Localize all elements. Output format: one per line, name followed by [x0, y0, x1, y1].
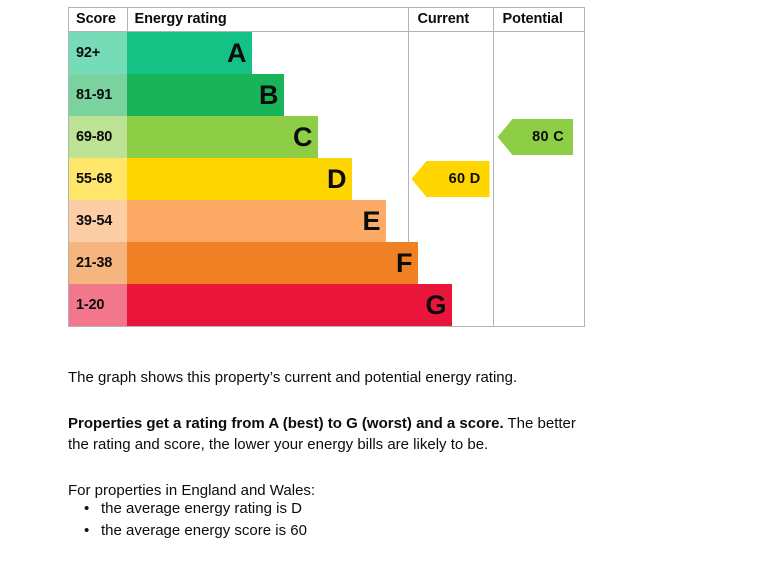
potential-cell-e [493, 200, 584, 242]
score-range-f: 21-38 [69, 242, 127, 284]
current-cell-d: 60 D [408, 158, 493, 200]
score-range-a: 92+ [69, 32, 127, 75]
rating-bar-cell-e: E [127, 200, 408, 242]
average-list-item: the average energy rating is D [101, 498, 307, 520]
rating-letter-a: A [227, 40, 246, 67]
rating-row-b: 81-91B [69, 74, 584, 116]
rating-bar-a: A [127, 32, 252, 74]
column-header-potential: Potential [493, 8, 584, 32]
rating-bar-c: C [127, 116, 318, 158]
rating-row-d: 55-68D60 D [69, 158, 584, 200]
score-range-e: 39-54 [69, 200, 127, 242]
current-cell-f [408, 242, 493, 284]
rating-bar-cell-d: D [127, 158, 408, 200]
column-header-current: Current [408, 8, 493, 32]
potential-cell-b [493, 74, 584, 116]
potential-cell-g [493, 284, 584, 326]
rating-explanation-paragraph: Properties get a rating from A (best) to… [68, 413, 588, 455]
rating-bar-d: D [127, 158, 352, 200]
rating-row-e: 39-54E [69, 200, 584, 242]
rating-bar-b: B [127, 74, 284, 116]
rating-row-a: 92+A [69, 32, 584, 75]
score-range-b: 81-91 [69, 74, 127, 116]
score-range-g: 1-20 [69, 284, 127, 326]
column-header-rating: Energy rating [127, 8, 408, 32]
rating-bar-g: G [127, 284, 452, 326]
score-range-c: 69-80 [69, 116, 127, 158]
average-list-item: the average energy score is 60 [101, 520, 307, 542]
averages-list: the average energy rating is Dthe averag… [68, 498, 307, 542]
current-cell-g [408, 284, 493, 326]
current-cell-e [408, 200, 493, 242]
potential-cell-c: 80 C [493, 116, 584, 158]
potential-cell-a [493, 32, 584, 75]
intro-paragraph: The graph shows this property’s current … [68, 367, 628, 388]
rating-bar-cell-b: B [127, 74, 408, 116]
rating-letter-c: C [293, 124, 312, 151]
score-range-d: 55-68 [69, 158, 127, 200]
potential-cell-d [493, 158, 584, 200]
rating-row-g: 1-20G [69, 284, 584, 326]
current-rating-marker: 60 D [412, 161, 490, 197]
current-cell-a [408, 32, 493, 75]
epc-table: Score Energy rating Current Potential 92… [69, 8, 584, 326]
column-header-score: Score [69, 8, 127, 32]
table-header-row: Score Energy rating Current Potential [69, 8, 584, 32]
rating-bar-cell-c: C [127, 116, 408, 158]
rating-row-f: 21-38F [69, 242, 584, 284]
rating-bar-cell-f: F [127, 242, 408, 284]
rating-letter-b: B [259, 82, 278, 109]
rating-letter-d: D [327, 166, 346, 193]
rating-bar-f: F [127, 242, 418, 284]
rating-row-c: 69-80C80 C [69, 116, 584, 158]
current-cell-b [408, 74, 493, 116]
rating-letter-e: E [362, 208, 380, 235]
current-cell-c [408, 116, 493, 158]
rating-explanation-bold: Properties get a rating from A (best) to… [68, 415, 504, 432]
rating-bar-cell-g: G [127, 284, 408, 326]
rating-bar-cell-a: A [127, 32, 408, 75]
potential-rating-marker: 80 C [498, 119, 574, 155]
rating-bar-e: E [127, 200, 386, 242]
epc-rating-chart: Score Energy rating Current Potential 92… [68, 7, 585, 327]
potential-cell-f [493, 242, 584, 284]
